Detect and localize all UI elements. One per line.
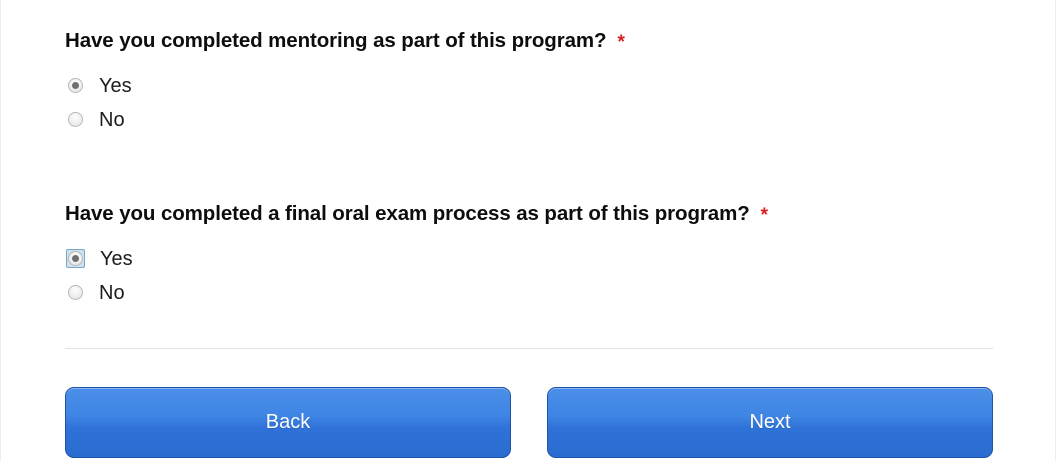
next-button[interactable]: Next xyxy=(547,387,993,458)
radio-icon-selected[interactable] xyxy=(67,77,84,94)
question-block: Have you completed a final oral exam pro… xyxy=(65,201,993,310)
radio-option-yes[interactable]: Yes xyxy=(65,69,132,103)
radio-option-yes[interactable]: Yes xyxy=(65,242,133,276)
back-button[interactable]: Back xyxy=(65,387,511,458)
radio-icon-unselected[interactable] xyxy=(67,284,84,301)
question-title: Have you completed a final oral exam pro… xyxy=(65,201,993,228)
radio-option-label: Yes xyxy=(100,249,133,269)
radio-option-no[interactable]: No xyxy=(65,276,125,310)
radio-option-label: No xyxy=(99,283,125,303)
radio-group: Yes No xyxy=(65,69,993,137)
radio-icon-selected-focused[interactable] xyxy=(66,249,85,268)
radio-option-no[interactable]: No xyxy=(65,103,125,137)
radio-option-label: Yes xyxy=(99,76,132,96)
question-block: Have you completed mentoring as part of … xyxy=(65,28,993,137)
required-asterisk-icon: * xyxy=(617,32,624,53)
page-frame: Have you completed mentoring as part of … xyxy=(0,0,1056,461)
survey-form: Have you completed mentoring as part of … xyxy=(65,0,993,461)
radio-option-label: No xyxy=(99,110,125,130)
radio-icon-unselected[interactable] xyxy=(67,111,84,128)
question-text: Have you completed mentoring as part of … xyxy=(65,29,606,52)
radio-group: Yes No xyxy=(65,242,993,310)
section-divider xyxy=(65,348,993,349)
question-text: Have you completed a final oral exam pro… xyxy=(65,202,750,225)
question-title: Have you completed mentoring as part of … xyxy=(65,28,993,55)
required-asterisk-icon: * xyxy=(761,205,768,226)
